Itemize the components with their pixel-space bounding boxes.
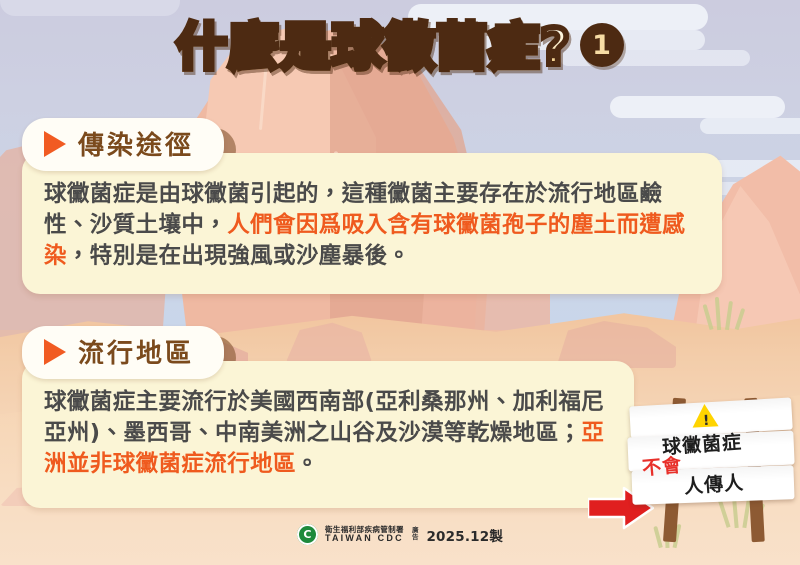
section-header-label: 傳染途徑 (78, 125, 194, 162)
section-body-text: 球黴菌症主要流行於美國西南部(亞利桑那州、加利福尼亞州)、墨西哥、中南美洲之山谷… (44, 387, 616, 480)
agency-name-en: TAIWAN CDC (325, 534, 404, 544)
agency-name: 衛生福利部疾病管制署 TAIWAN CDC (325, 526, 404, 543)
exclamation-mark: ! (703, 414, 710, 428)
section-header-transmission: 傳染途徑 (22, 118, 224, 171)
page-title: 什麼是球黴菌症? 1 (0, 22, 800, 72)
footer: C 衛生福利部疾病管制署 TAIWAN CDC 廣 告 2025.12製 (0, 524, 800, 545)
advertisement-label: 廣 告 (412, 528, 419, 542)
body-text-part: ，特別是在出現強風或沙塵暴後。 (67, 243, 411, 269)
page-title-text: 什麼是球黴菌症? (176, 22, 571, 72)
sign-text-line2: 不會 (641, 450, 683, 480)
grass-tuft-icon (704, 296, 750, 330)
section-body-text: 球黴菌症是由球黴菌引起的，這種黴菌主要存在於流行地區鹼性、沙質土壤中，人們會因爲… (44, 179, 704, 272)
infographic-poster: 什麼是球黴菌症? 1 傳染途徑 球黴菌症是由球黴菌引起的，這種黴菌主要存在於流行… (0, 0, 800, 565)
taiwan-cdc-logo-icon: C (297, 524, 318, 545)
cloud-icon (0, 0, 180, 16)
section-header-endemic: 流行地區 (22, 326, 224, 379)
warning-sign: ! 球黴菌症 不會 人傳人 (626, 392, 800, 542)
body-text-part: 。 (296, 451, 319, 477)
body-text-part: 球黴菌症主要流行於美國西南部(亞利桑那州、加利福尼亞州)、墨西哥、中南美洲之山谷… (44, 389, 604, 446)
play-triangle-icon (44, 131, 66, 157)
section-header-label: 流行地區 (78, 333, 194, 370)
publication-date: 2025.12製 (426, 525, 503, 545)
section-body-card: 球黴菌症主要流行於美國西南部(亞利桑那州、加利福尼亞州)、墨西哥、中南美洲之山谷… (22, 361, 634, 508)
logo-letter: C (303, 529, 311, 540)
play-triangle-icon (44, 339, 66, 365)
ad-label-bottom: 告 (412, 535, 419, 542)
page-number-badge: 1 (580, 23, 624, 67)
section-transmission: 傳染途徑 球黴菌症是由球黴菌引起的，這種黴菌主要存在於流行地區鹼性、沙質土壤中，… (22, 118, 762, 294)
cloud-icon (610, 96, 785, 118)
section-body-card: 球黴菌症是由球黴菌引起的，這種黴菌主要存在於流行地區鹼性、沙質土壤中，人們會因爲… (22, 153, 722, 294)
sign-text-line3: 人傳人 (683, 468, 745, 499)
